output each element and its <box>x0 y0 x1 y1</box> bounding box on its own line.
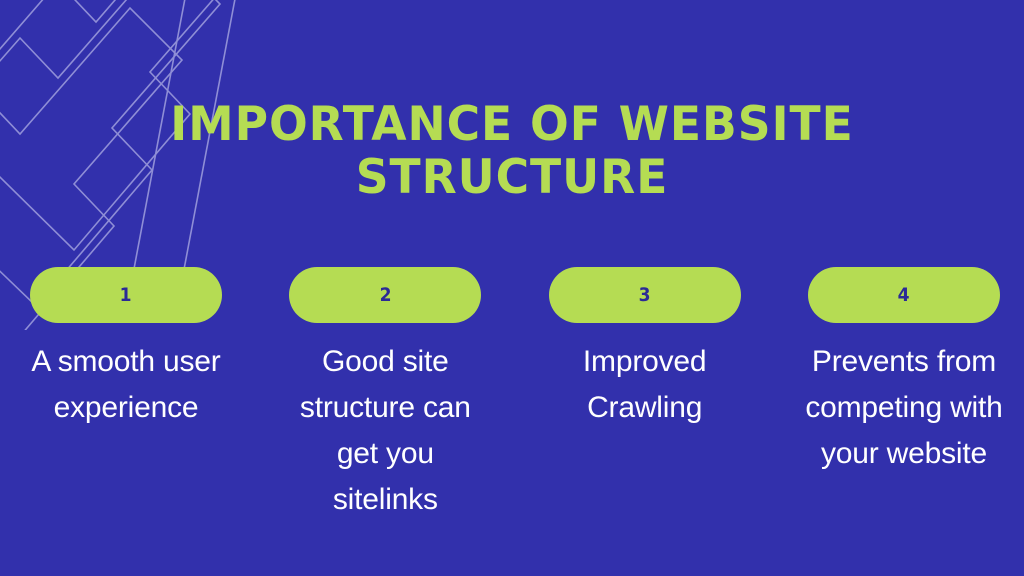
benefit-text-1: A smooth user experience <box>26 339 226 431</box>
number-badge-2: 2 <box>289 267 481 323</box>
benefits-columns: 1 A smooth user experience 2 Good site s… <box>30 267 1000 523</box>
benefit-column-2: 2 Good site structure can get you siteli… <box>289 267 481 523</box>
benefit-column-1: 1 A smooth user experience <box>30 267 222 431</box>
number-badge-label-3: 3 <box>639 286 651 305</box>
benefit-text-3: Improved Crawling <box>545 339 745 431</box>
benefit-text-4: Prevents from competing with your websit… <box>804 339 1004 477</box>
number-badge-1: 1 <box>30 267 222 323</box>
number-badge-label-2: 2 <box>379 286 391 305</box>
slide-canvas: IMPORTANCE OF WEBSITE STRUCTURE 1 A smoo… <box>0 0 1024 576</box>
benefit-column-4: 4 Prevents from competing with your webs… <box>808 267 1000 477</box>
benefit-text-2: Good site structure can get you sitelink… <box>285 339 485 523</box>
number-badge-label-4: 4 <box>898 286 910 305</box>
number-badge-label-1: 1 <box>120 286 132 305</box>
number-badge-3: 3 <box>549 267 741 323</box>
title-line-1: IMPORTANCE OF WEBSITE <box>15 98 1008 151</box>
number-badge-4: 4 <box>808 267 1000 323</box>
benefit-column-3: 3 Improved Crawling <box>549 267 741 431</box>
page-title: IMPORTANCE OF WEBSITE STRUCTURE <box>0 98 1024 204</box>
title-line-2: STRUCTURE <box>15 151 1008 204</box>
